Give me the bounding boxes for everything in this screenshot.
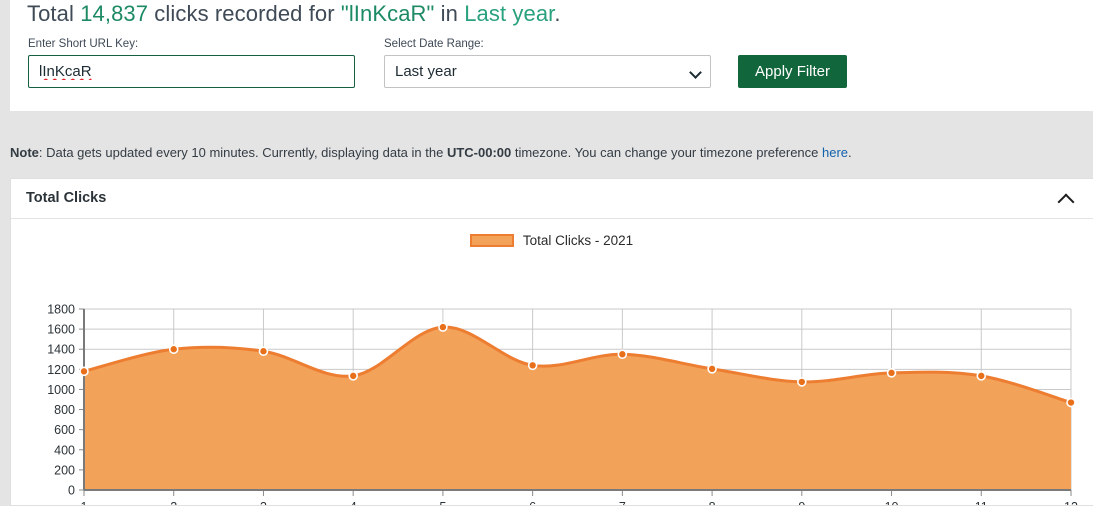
filter-card: Total 14,837 clicks recorded for "lInKca…	[10, 0, 1093, 111]
note-band: Note: Data gets updated every 10 minutes…	[0, 111, 1093, 171]
y-tick-label: 1000	[47, 383, 75, 397]
headline-click-count: 14,837	[80, 1, 148, 26]
x-tick-label: 1	[81, 500, 88, 505]
page-title: Total 14,837 clicks recorded for "lInKca…	[27, 1, 561, 27]
chart-data-point[interactable]	[798, 378, 806, 386]
chart-data-point[interactable]	[349, 372, 357, 380]
date-range-label: Select Date Range:	[384, 38, 711, 51]
note-text-2: timezone. You can change your timezone p…	[511, 145, 822, 160]
headline-url-key: "lInKcaR"	[341, 1, 435, 26]
short-url-field-group: Enter Short URL Key:	[28, 38, 355, 88]
chart-data-point[interactable]	[529, 361, 537, 369]
apply-filter-button[interactable]: Apply Filter	[738, 55, 847, 88]
chart-area-fill	[84, 327, 1071, 490]
chevron-up-icon[interactable]	[1056, 189, 1076, 209]
x-tick-label: 6	[529, 500, 536, 505]
y-tick-label: 1600	[47, 323, 75, 337]
x-tick-label: 5	[439, 500, 446, 505]
panel-header: Total Clicks	[11, 179, 1093, 219]
chart-data-point[interactable]	[618, 350, 626, 358]
x-tick-label: 11	[975, 500, 988, 505]
chart-x-tick-labels: 123456789101112	[81, 500, 1078, 505]
date-range-field-group: Select Date Range: Last year	[384, 38, 711, 88]
chart-series-layer	[84, 327, 1071, 490]
chart-y-tick-labels: 020040060080010001200140016001800	[47, 303, 75, 498]
date-range-select[interactable]: Last year	[384, 55, 711, 88]
note-text-1: : Data gets updated every 10 minutes. Cu…	[39, 145, 447, 160]
x-tick-label: 9	[798, 500, 805, 505]
y-tick-label: 200	[54, 463, 75, 477]
chart-data-point[interactable]	[439, 323, 447, 331]
note-bold-prefix: Note	[10, 145, 39, 160]
y-tick-label: 1400	[47, 343, 75, 357]
y-tick-label: 400	[54, 443, 75, 457]
chart-data-point[interactable]	[1067, 399, 1075, 407]
y-tick-label: 800	[54, 403, 75, 417]
page-root: Total 14,837 clicks recorded for "lInKca…	[0, 0, 1093, 506]
note-timezone: UTC-00:00	[447, 145, 511, 160]
chart-data-point[interactable]	[977, 372, 985, 380]
date-range-select-wrap: Last year	[384, 55, 711, 88]
x-tick-label: 8	[709, 500, 716, 505]
y-tick-label: 1200	[47, 363, 75, 377]
total-clicks-panel: Total Clicks Total Clicks - 2021 0200400…	[10, 178, 1093, 506]
x-tick-label: 3	[260, 500, 267, 505]
headline-prefix: Total	[27, 1, 80, 26]
headline-date-range: Last year	[464, 1, 554, 26]
y-tick-label: 600	[54, 423, 75, 437]
chart-data-point[interactable]	[259, 347, 267, 355]
chart-area: Total Clicks - 2021 02004006008001000120…	[11, 219, 1092, 505]
panel-title: Total Clicks	[26, 190, 106, 206]
x-tick-label: 4	[350, 500, 357, 505]
x-tick-label: 12	[1064, 500, 1078, 505]
search-input[interactable]	[28, 55, 355, 88]
timezone-preference-link[interactable]: here	[822, 145, 848, 160]
chart-data-point[interactable]	[80, 367, 88, 375]
chart-data-point[interactable]	[888, 369, 896, 377]
short-url-label: Enter Short URL Key:	[28, 38, 355, 51]
headline-middle: clicks recorded for	[148, 1, 341, 26]
filter-form: Enter Short URL Key: Select Date Range: …	[28, 38, 847, 88]
x-tick-label: 7	[619, 500, 626, 505]
note-text: Note: Data gets updated every 10 minutes…	[10, 145, 852, 160]
x-tick-label: 2	[170, 500, 177, 505]
headline-suffix: .	[554, 1, 560, 26]
note-text-3: .	[848, 145, 852, 160]
chart-data-point[interactable]	[170, 345, 178, 353]
y-tick-label: 0	[68, 484, 75, 498]
x-tick-label: 10	[885, 500, 899, 505]
chart-data-point[interactable]	[708, 365, 716, 373]
y-tick-label: 1800	[47, 303, 75, 317]
headline-joiner: in	[434, 1, 464, 26]
clicks-area-chart: 020040060080010001200140016001800 123456…	[11, 219, 1092, 505]
